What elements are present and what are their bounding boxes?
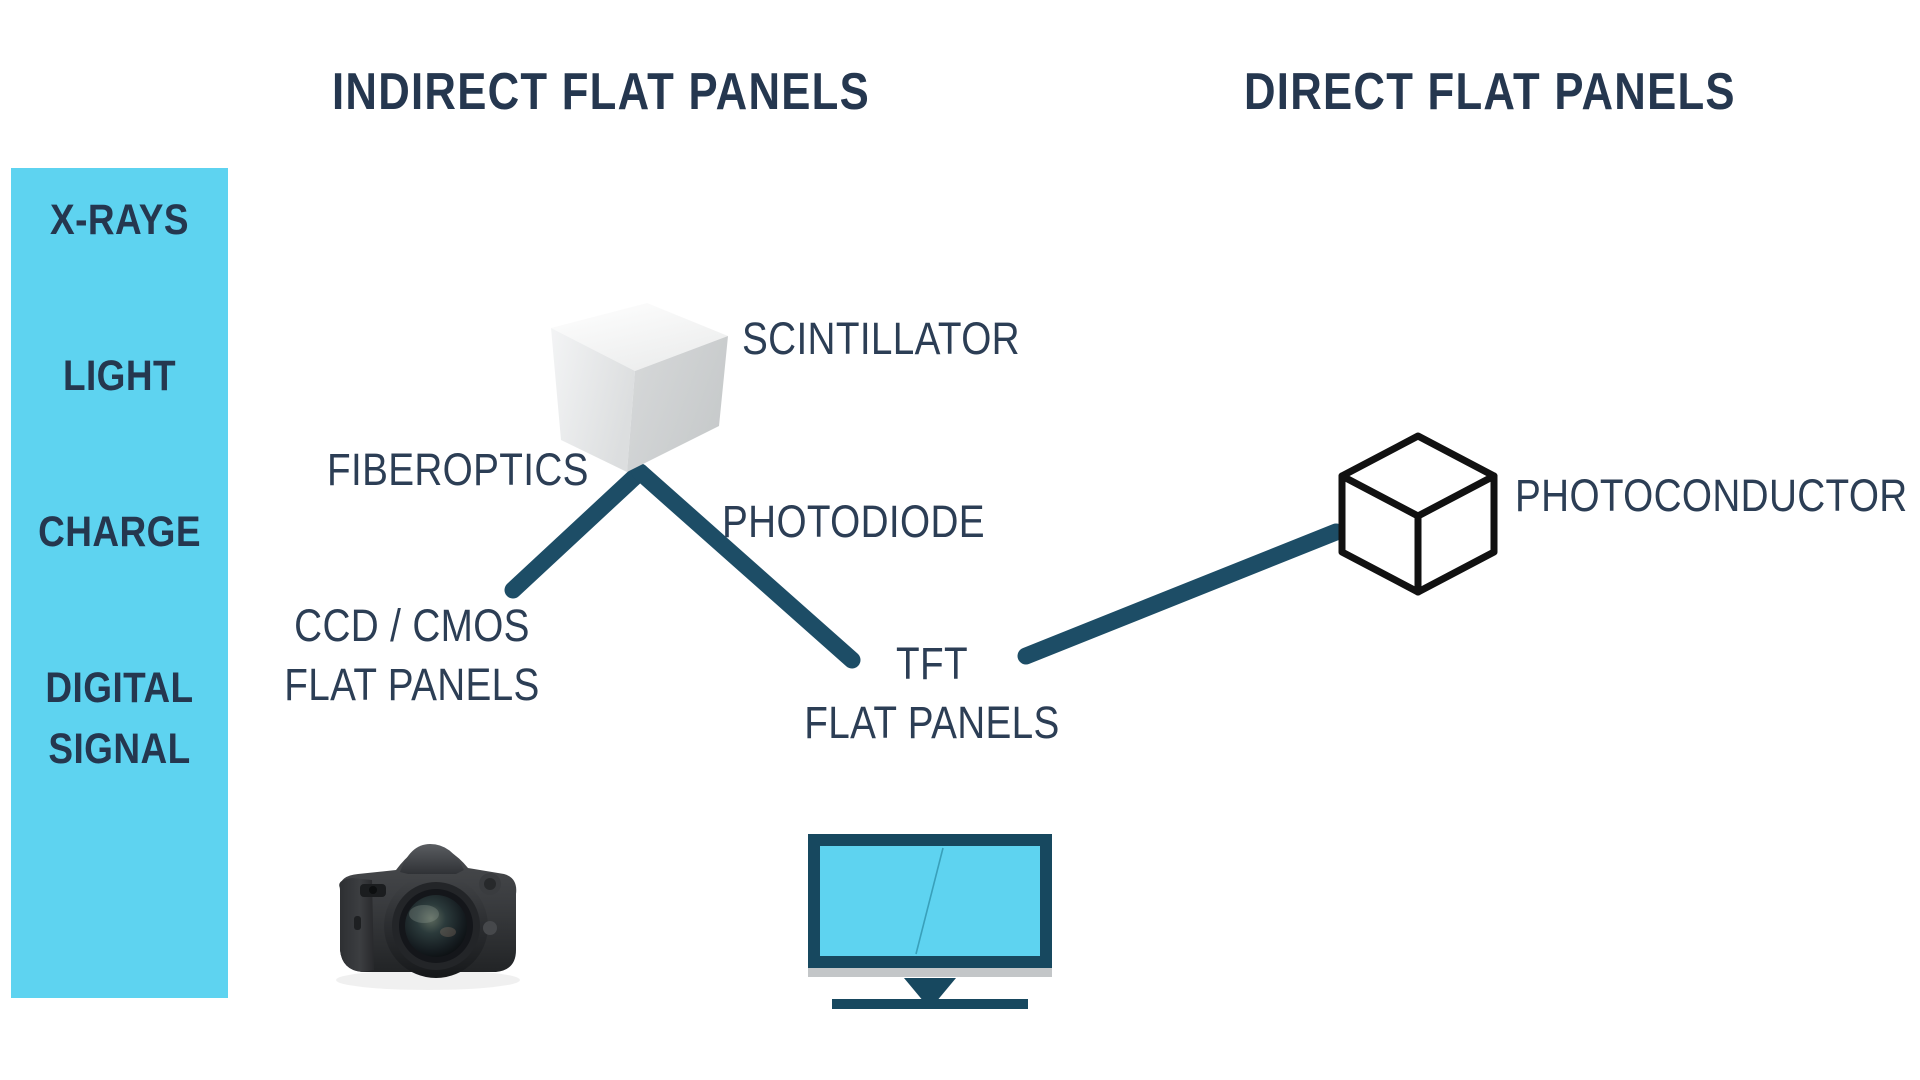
heading-direct-flat-panels: DIRECT FLAT PANELS [1244, 62, 1736, 122]
label-photoconductor: PHOTOCONDUCTOR [1515, 466, 1908, 525]
heading-indirect-flat-panels: INDIRECT FLAT PANELS [332, 62, 870, 122]
energy-chain-sidebar: X-RAYS LIGHT CHARGE DIGITALSIGNAL [11, 168, 228, 998]
connector-photoconductor-to-tft [1026, 532, 1336, 656]
energy-chain-item-charge: CHARGE [26, 502, 213, 563]
label-photodiode: PHOTODIODE [722, 492, 985, 551]
label-scintillator: SCINTILLATOR [742, 309, 1020, 368]
label-tft-flat-panels: TFTFLAT PANELS [803, 634, 1061, 753]
energy-chain-item-light: LIGHT [26, 346, 213, 407]
label-fiberoptics: FIBEROPTICS [327, 440, 589, 499]
energy-chain-item-xrays: X-RAYS [26, 190, 213, 251]
wireframe-cube-icon [1336, 430, 1500, 598]
dslr-camera-icon [318, 828, 538, 1006]
diagram-canvas: X-RAYS LIGHT CHARGE DIGITALSIGNAL INDIRE… [0, 0, 1920, 1080]
flat-panel-monitor-icon [800, 830, 1060, 1020]
label-ccd-cmos-flat-panels: CCD / CMOSFLAT PANELS [283, 596, 541, 715]
energy-chain-item-digital-signal: DIGITALSIGNAL [26, 658, 213, 780]
